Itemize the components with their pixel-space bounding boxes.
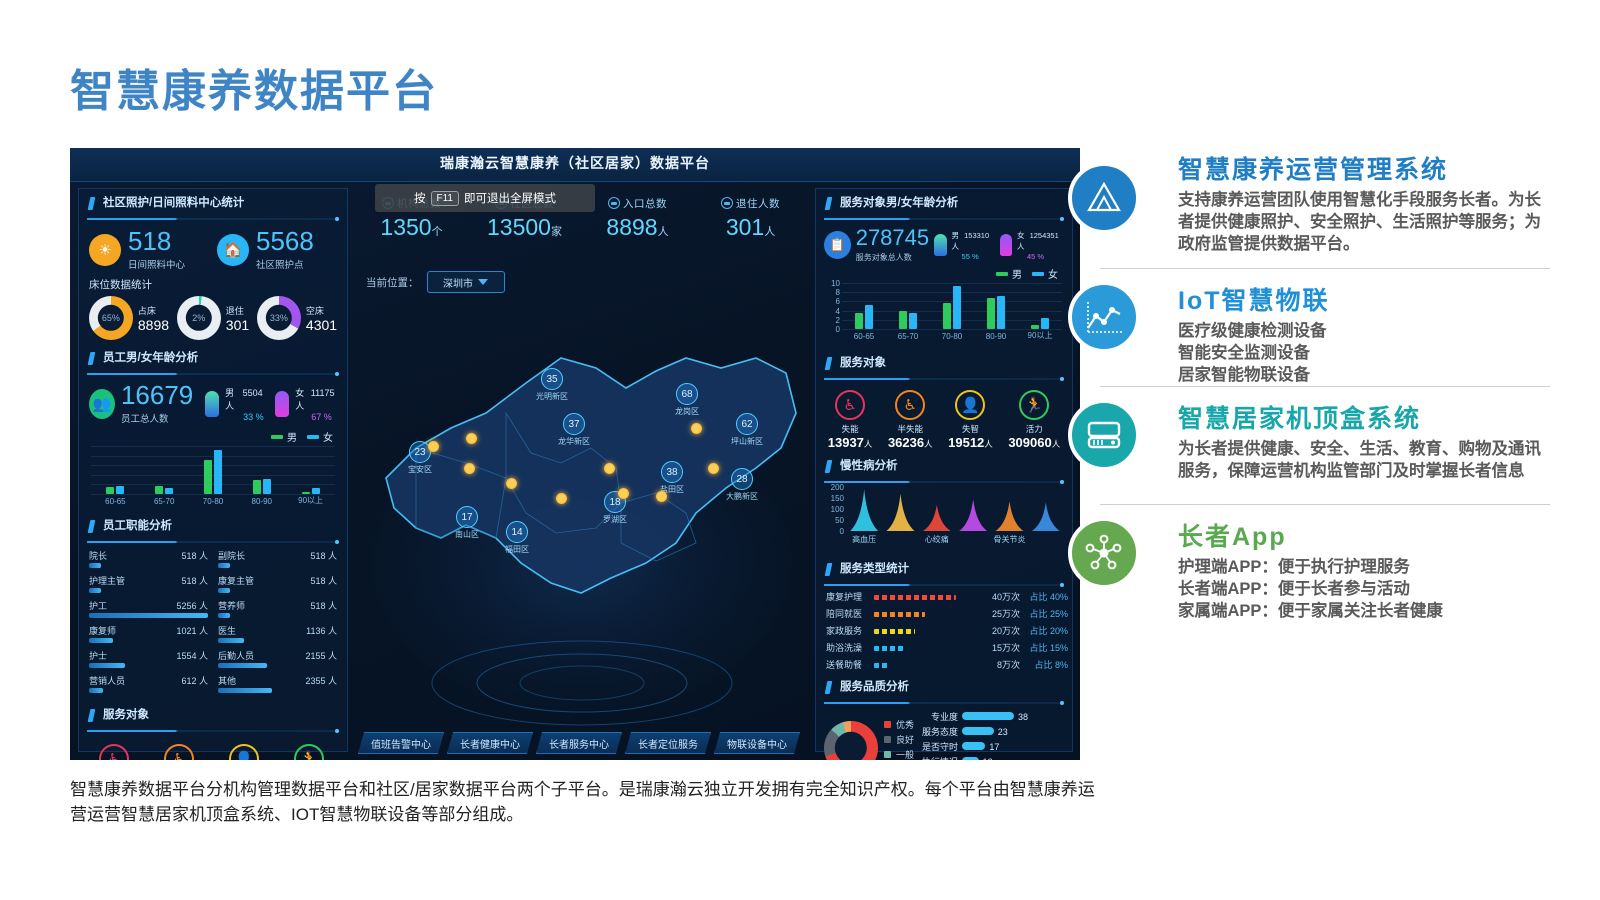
chronic-spikes	[846, 487, 1064, 533]
bar-女-90以上	[312, 488, 320, 494]
left-service-objects-title: 服务对象	[87, 707, 339, 729]
client-gender-stats: 📋 278745 服务对象总人数 男 153310人 55 % 女 125435…	[816, 224, 1072, 263]
job-bar	[89, 663, 125, 668]
x-axis-label: 90以上	[1018, 330, 1062, 341]
feature-desc-line: 医疗级健康检测设备	[1178, 321, 1550, 343]
y-axis-tick: 0	[826, 325, 840, 334]
service-object-半失能: ♿半失能36236人	[888, 390, 933, 450]
job-item: 营养师518 人	[218, 599, 337, 624]
care-card-2: 🏠5568社区照护点	[217, 228, 337, 271]
quality-bar-fill	[962, 742, 985, 750]
legend-item-男: 男	[996, 266, 1022, 281]
donut-graphic: 33%	[257, 296, 301, 340]
feature-title: 长者App	[1178, 517, 1550, 553]
right-panel: 服务对象男/女年龄分析 📋 278745 服务对象总人数 男 153310人 5…	[815, 188, 1073, 752]
kpi-label: 入口总数	[581, 196, 694, 211]
legend-swatch	[996, 272, 1008, 276]
bar-男-60-65	[855, 313, 863, 329]
bed-donut-1: 65%占床8898	[89, 296, 169, 340]
kpi-value: 8898人	[581, 214, 694, 241]
bed-donut-2: 2%退住301	[177, 296, 249, 340]
job-bar	[89, 688, 103, 693]
grid-line	[91, 475, 335, 476]
map-marker-label: 宝安区	[408, 464, 432, 475]
legend-item-女: 女	[1032, 266, 1058, 281]
job-item: 护士1554 人	[89, 649, 208, 674]
bar-男-80-90	[253, 480, 261, 494]
female-figure-icon	[275, 391, 289, 417]
x-axis-label: 60-65	[91, 497, 140, 506]
quality-legend: 优秀良好一般差	[884, 718, 914, 761]
chronic-peak	[996, 501, 1024, 531]
map-marker-盐田区[interactable]: 38盐田区	[661, 461, 696, 495]
feature-item-3: 智慧居家机顶盒系统为长者提供健康、安全、生活、教育、购物及通讯服务，保障运营机构…	[1100, 386, 1550, 504]
tab-长者健康中心[interactable]: 长者健康中心	[447, 732, 533, 754]
job-bar	[89, 563, 101, 568]
job-item: 营销人员612 人	[89, 674, 208, 699]
kpi-4: 退住人数301人	[694, 196, 807, 241]
section-divider	[824, 378, 1064, 380]
legend-item-男: 男	[271, 429, 297, 444]
grid-line	[842, 301, 1062, 302]
city-dropdown[interactable]: 深圳市	[427, 271, 505, 293]
service-type-count: 40万次	[992, 590, 1020, 603]
service-type-name: 送餐助餐	[826, 658, 862, 671]
bar-男-70-80	[943, 303, 951, 329]
job-value: 518 人	[181, 549, 208, 562]
staff-total-value: 16679	[121, 382, 193, 408]
service-type-row: 送餐助餐8万次占比 8%	[816, 658, 1072, 675]
map-marker-坪山新区[interactable]: 62坪山新区	[736, 413, 779, 447]
client-total-value: 278745	[856, 227, 929, 249]
page-title: 智慧康养数据平台	[70, 55, 438, 119]
service-type-count: 8万次	[997, 658, 1020, 671]
donut-percent: 65%	[89, 313, 133, 323]
beds-title: 床位数据统计	[79, 271, 347, 294]
client-chart-legend: 男女	[816, 263, 1072, 281]
service-object-value: 19512人	[948, 435, 993, 450]
bar-男-80-90	[987, 298, 995, 329]
bar-男-60-65	[106, 487, 114, 494]
chronic-chart: 200150100500高血压心绞痛骨关节炎	[846, 487, 1064, 545]
y-axis-tick: 8	[826, 288, 840, 297]
care-section-title: 社区照护/日间照料中心统计	[87, 195, 339, 217]
service-type-bar	[874, 629, 915, 634]
grid-line	[842, 283, 1062, 284]
staff-gender-title: 员工男/女年龄分析	[87, 350, 339, 372]
job-value: 1554 人	[176, 649, 208, 662]
job-value: 518 人	[310, 574, 337, 587]
chronic-peak	[850, 489, 878, 531]
feature-title: 智慧康养运营管理系统	[1178, 150, 1550, 186]
bar-男-90以上	[302, 492, 310, 494]
x-axis-label: 70-80	[189, 497, 238, 506]
chronic-peak	[887, 494, 915, 531]
job-value: 2355 人	[305, 674, 337, 687]
service-object-label: 失能	[828, 423, 873, 435]
section-divider	[87, 730, 339, 732]
service-type-percent: 占比 8%	[1034, 658, 1068, 671]
fullscreen-hint-suffix: 即可退出全屏模式	[464, 190, 556, 206]
job-item: 副院长518 人	[218, 549, 337, 574]
chevron-down-icon	[478, 279, 488, 285]
service-type-count: 25万次	[992, 607, 1020, 620]
feature-desc-line: 智能安全监测设备	[1178, 343, 1550, 365]
x-axis-label: 60-65	[842, 332, 886, 341]
section-divider	[824, 702, 1064, 704]
grid-line	[91, 446, 335, 447]
staff-age-chart: 60-6565-7070-8080-9090以上	[91, 446, 335, 506]
x-axis-label: 高血压	[834, 534, 894, 545]
feature-description: 护理端APP：便于执行护理服务长者端APP：便于长者参与活动家属端APP：便于家…	[1178, 557, 1550, 622]
job-item: 康复主管518 人	[218, 574, 337, 599]
service-object-半失能: ♿半失能1335人	[162, 744, 197, 760]
fullscreen-hint-prefix: 按	[414, 190, 426, 206]
job-name: 营养师	[218, 599, 245, 612]
quality-bar-name: 服务态度	[920, 725, 958, 738]
staff-female-pct: 67 %	[311, 412, 337, 422]
job-value: 518 人	[310, 549, 337, 562]
left-service-objects: ♿失能445人♿半失能1335人👤失智675人🏃活力6443人	[79, 736, 347, 760]
service-object-失智: 👤失智19512人	[948, 390, 993, 450]
client-gender-title: 服务对象男/女年龄分析	[824, 195, 1064, 217]
map-marker-label: 南山区	[455, 529, 479, 540]
service-object-label: 失智	[948, 423, 993, 435]
feature-item-2: IoT智慧物联医疗级健康检测设备智能安全监测设备居家智能物联设备	[1100, 268, 1550, 386]
service-object-label: 活力	[1008, 423, 1060, 435]
dashboard-screenshot: 瑞康瀚云智慧康养（社区居家）数据平台 按 F11 即可退出全屏模式 机构总数13…	[70, 148, 1080, 760]
map-dot	[466, 433, 477, 444]
y-axis-tick: 200	[826, 483, 844, 492]
y-axis-tick: 2	[826, 316, 840, 325]
job-value: 1021 人	[176, 624, 208, 637]
x-axis-label: 90以上	[286, 495, 335, 506]
bar-男-70-80	[204, 460, 212, 495]
job-item: 后勤人员2155 人	[218, 649, 337, 674]
x-axis-label: 80-90	[974, 332, 1018, 341]
tab-长者服务中心[interactable]: 长者服务中心	[536, 732, 622, 754]
quality-bar-fill	[962, 727, 994, 735]
service-type-name: 助浴洗澡	[826, 641, 862, 654]
jobs-grid: 院长518 人副院长518 人护理主管518 人康复主管518 人护工5256 …	[79, 547, 347, 701]
right-service-objects: ♿失能13937人♿半失能36236人👤失智19512人🏃活力309060人	[816, 384, 1072, 450]
service-type-bar	[874, 612, 925, 617]
map-marker-大鹏新区[interactable]: 28大鹏新区	[731, 468, 774, 502]
map-marker-南山区[interactable]: 17南山区	[456, 506, 491, 540]
tab-物联设备中心[interactable]: 物联设备中心	[714, 732, 800, 754]
service-type-bar	[874, 646, 904, 651]
job-item: 护理主管518 人	[89, 574, 208, 599]
job-name: 后勤人员	[218, 649, 254, 662]
job-value: 2155 人	[305, 649, 337, 662]
kpi-value: 301人	[694, 214, 807, 241]
job-item: 院长518 人	[89, 549, 208, 574]
kpi-icon	[608, 197, 620, 209]
job-value: 518 人	[181, 574, 208, 587]
caption-text: 智慧康养数据平台分机构管理数据平台和社区/居家数据平台两个子平台。是瑞康瀚云独立…	[70, 778, 1100, 827]
service-type-percent: 占比 20%	[1029, 624, 1068, 637]
map-dot	[464, 463, 475, 474]
service-type-bar	[874, 595, 956, 600]
job-value: 612 人	[181, 674, 208, 687]
quality-bar-value: 38	[1018, 712, 1028, 722]
map-marker-value: 38	[661, 461, 683, 483]
map-marker-value: 14	[506, 521, 528, 543]
fullscreen-hint: 按 F11 即可退出全屏模式	[375, 184, 595, 212]
male-figure-icon	[934, 234, 946, 256]
x-axis-label: 70-80	[930, 332, 974, 341]
quality-bar-name: 是否守时	[920, 740, 958, 753]
section-divider	[824, 481, 1064, 483]
job-name: 其他	[218, 674, 236, 687]
app-network-icon	[1068, 517, 1140, 589]
job-bar	[89, 638, 113, 643]
grid-line	[91, 456, 335, 457]
bar-女-90以上	[1041, 318, 1049, 329]
service-object-value: 13937人	[828, 435, 873, 450]
map-marker-label: 龙华新区	[558, 436, 590, 447]
dementia-icon: 👤	[229, 744, 259, 760]
x-axis-label: 65-70	[886, 332, 930, 341]
map-marker-光明新区[interactable]: 35光明新区	[541, 368, 584, 402]
quality-donut	[824, 721, 878, 761]
feature-desc-line: 护理端APP：便于执行护理服务	[1178, 557, 1550, 579]
feature-item-1: 智慧康养运营管理系统支持康养运营团队使用智慧化手段服务长者。为长者提供健康照护、…	[1100, 150, 1550, 268]
female-figure-icon	[1000, 234, 1012, 256]
legend-swatch	[271, 435, 283, 439]
legend-swatch	[884, 721, 891, 728]
service-object-活力: 🏃活力309060人	[1008, 390, 1060, 450]
service-type-row: 家政服务20万次占比 20%	[816, 624, 1072, 641]
quality-bar-row: 执行情况12	[920, 755, 1064, 760]
map-marker-福田区[interactable]: 14福田区	[506, 521, 541, 555]
staff-chart-legend: 男女	[79, 425, 347, 444]
map-dot	[618, 488, 629, 499]
staff-male-label: 男	[225, 388, 234, 398]
quality-bar-name: 专业度	[920, 710, 958, 723]
right-service-objects-title: 服务对象	[824, 355, 1064, 377]
staff-female-label: 女	[295, 388, 304, 398]
map-marker-label: 大鹏新区	[726, 491, 758, 502]
tab-长者定位服务[interactable]: 长者定位服务	[625, 732, 711, 754]
client-age-chart: 60-6565-7070-8080-9090以上1086420	[842, 283, 1062, 341]
quality-legend-一般: 一般	[884, 748, 914, 761]
job-item: 护工5256 人	[89, 599, 208, 624]
tab-值班告警中心[interactable]: 值班告警中心	[358, 732, 444, 754]
y-axis-tick: 10	[826, 279, 840, 288]
quality-bar-fill	[962, 757, 979, 760]
bed-donut-3: 33%空床4301	[257, 296, 337, 340]
quality-legend-良好: 良好	[884, 733, 914, 748]
bed-label: 退住	[226, 304, 249, 317]
service-types-list: 康复护理40万次占比 40%陪同就医25万次占比 25%家政服务20万次占比 2…	[816, 590, 1072, 675]
service-object-value: 36236人	[888, 435, 933, 450]
feature-description: 为长者提供健康、安全、生活、教育、购物及通讯服务，保障运营机构监管部门及时掌握长…	[1178, 439, 1550, 483]
map-area[interactable]: 当前位置： 深圳市 35光明新区37龙华新区23宝安区68龙岗区62坪山新区17…	[356, 263, 808, 753]
service-type-row: 助浴洗澡15万次占比 15%	[816, 641, 1072, 658]
map-marker-龙华新区[interactable]: 37龙华新区	[563, 413, 606, 447]
care-card-value: 5568	[256, 228, 314, 254]
feature-desc-line: 家属端APP：便于家属关注长者健康	[1178, 601, 1550, 623]
y-axis-tick: 100	[826, 505, 844, 514]
feature-desc-line: 支持康养运营团队使用智慧化手段服务长者。为长者提供健康照护、安全照护、生活照护等…	[1178, 190, 1550, 255]
legend-item-女: 女	[307, 429, 333, 444]
job-value: 1136 人	[306, 624, 337, 637]
quality-block: 优秀良好一般差 专业度38服务态度23是否守时17执行情况12其他10	[816, 708, 1072, 760]
y-axis-tick: 4	[826, 307, 840, 316]
quality-title: 服务品质分析	[824, 679, 1064, 701]
feature-list: 智慧康养运营管理系统支持康养运营团队使用智慧化手段服务长者。为长者提供健康照护、…	[1100, 150, 1550, 623]
feature-desc-line: 为长者提供健康、安全、生活、教育、购物及通讯服务，保障运营机构监管部门及时掌握长…	[1178, 439, 1550, 483]
donut-percent: 33%	[257, 313, 301, 323]
disabled-icon: ♿	[835, 390, 865, 420]
map-marker-label: 龙岗区	[675, 406, 699, 417]
bar-女-60-65	[116, 486, 124, 494]
client-female-label: 女	[1017, 231, 1025, 240]
service-type-percent: 占比 15%	[1029, 641, 1068, 654]
section-divider	[87, 218, 339, 220]
bar-女-65-70	[165, 488, 173, 494]
job-name: 康复师	[89, 624, 116, 637]
service-type-row: 陪同就医25万次占比 25%	[816, 607, 1072, 624]
kpi-icon	[721, 197, 733, 209]
active-icon: 🏃	[294, 744, 324, 760]
job-name: 院长	[89, 549, 107, 562]
service-type-percent: 占比 25%	[1029, 607, 1068, 620]
bar-女-70-80	[953, 286, 961, 329]
job-bar	[218, 613, 230, 618]
service-type-count: 15万次	[992, 641, 1020, 654]
client-total-label: 服务对象总人数	[856, 252, 929, 263]
quality-bar-fill	[962, 712, 1014, 720]
x-axis-label: 65-70	[140, 497, 189, 506]
map-marker-value: 35	[541, 368, 563, 390]
y-axis-tick: 6	[826, 297, 840, 306]
feature-title: IoT智慧物联	[1178, 281, 1550, 317]
service-type-row: 康复护理40万次占比 40%	[816, 590, 1072, 607]
map-marker-label: 光明新区	[536, 391, 568, 402]
service-object-活力: 🏃活力6443人	[292, 744, 327, 760]
job-name: 副院长	[218, 549, 245, 562]
care-card-1: ☀518日间照料中心	[89, 228, 209, 271]
legend-swatch	[1032, 272, 1044, 276]
set-top-box-icon	[1068, 399, 1140, 471]
semi-disabled-icon: ♿	[164, 744, 194, 760]
service-object-失智: 👤失智675人	[229, 744, 259, 760]
service-type-name: 陪同就医	[826, 607, 862, 620]
bottom-tabs[interactable]: 值班告警中心长者健康中心长者服务中心长者定位服务物联设备中心	[358, 732, 800, 754]
service-type-name: 康复护理	[826, 590, 862, 603]
bar-男-65-70	[899, 311, 907, 329]
bed-value: 301	[226, 317, 249, 333]
bar-男-90以上	[1031, 325, 1039, 329]
client-total-icon: 📋	[824, 231, 851, 259]
feature-description: 支持康养运营团队使用智慧化手段服务长者。为长者提供健康照护、安全照护、生活照护等…	[1178, 190, 1550, 255]
left-panel: 社区照护/日间照料中心统计 ☀518日间照料中心🏠5568社区照护点 床位数据统…	[78, 188, 348, 752]
kpi-3: 入口总数8898人	[581, 196, 694, 241]
map-dot	[708, 463, 719, 474]
map-marker-label: 福田区	[505, 544, 529, 555]
city-dropdown-value: 深圳市	[443, 275, 473, 290]
kpi-label: 退住人数	[694, 196, 807, 211]
triangle-network-icon	[1068, 162, 1140, 234]
dashboard-header: 瑞康瀚云智慧康养（社区居家）数据平台	[70, 148, 1080, 182]
job-bar	[218, 688, 272, 693]
job-name: 医生	[218, 624, 236, 637]
quality-bars: 专业度38服务态度23是否守时17执行情况12其他10	[920, 710, 1064, 760]
daycare-icon: ☀	[89, 234, 121, 266]
legend-swatch	[884, 751, 891, 758]
map-marker-value: 28	[731, 468, 753, 490]
location-selector[interactable]: 当前位置： 深圳市	[366, 271, 505, 293]
bed-value: 8898	[138, 317, 169, 333]
map-dot	[691, 423, 702, 434]
job-item: 其他2355 人	[218, 674, 337, 699]
job-bar	[218, 663, 267, 668]
section-divider	[824, 218, 1064, 220]
grid-line	[91, 484, 335, 485]
map-graphic	[356, 263, 808, 753]
quality-bar-row: 服务态度23	[920, 725, 1064, 740]
section-divider	[824, 584, 1064, 586]
bed-label: 占床	[138, 304, 169, 317]
client-male-pct: 55 %	[962, 252, 995, 261]
service-type-name: 家政服务	[826, 624, 862, 637]
beds-donuts: 65%占床88982%退住30133%空床4301	[79, 294, 347, 344]
y-axis-tick: 50	[826, 516, 844, 525]
map-marker-value: 17	[456, 506, 478, 528]
legend-swatch	[307, 435, 319, 439]
donut-graphic: 2%	[177, 296, 221, 340]
bar-男-65-70	[155, 486, 163, 494]
job-item: 医生1136 人	[218, 624, 337, 649]
service-types-title: 服务类型统计	[824, 561, 1064, 583]
dashboard-title: 瑞康瀚云智慧康养（社区居家）数据平台	[70, 153, 1080, 173]
legend-swatch	[884, 736, 891, 743]
service-object-label: 半失能	[888, 423, 933, 435]
quality-bar-row: 是否守时17	[920, 740, 1064, 755]
job-name: 护士	[89, 649, 107, 662]
service-object-失能: ♿失能445人	[99, 744, 129, 760]
service-type-percent: 占比 40%	[1029, 590, 1068, 603]
map-marker-value: 68	[676, 383, 698, 405]
chronic-peak	[1032, 502, 1060, 531]
donut-graphic: 65%	[89, 296, 133, 340]
feature-description: 医疗级健康检测设备智能安全监测设备居家智能物联设备	[1178, 321, 1550, 386]
map-dot	[428, 441, 439, 452]
map-dot	[656, 491, 667, 502]
service-object-value: 309060人	[1008, 435, 1060, 450]
y-axis-tick: 150	[826, 494, 844, 503]
x-axis-label: 心绞痛	[907, 534, 967, 545]
bar-女-60-65	[865, 305, 873, 329]
grid-line	[842, 292, 1062, 293]
map-marker-value: 62	[736, 413, 758, 435]
job-item: 康复师1021 人	[89, 624, 208, 649]
map-marker-value: 37	[563, 413, 585, 435]
job-value: 518 人	[310, 599, 337, 612]
quality-bar-value: 12	[983, 757, 993, 760]
disabled-icon: ♿	[99, 744, 129, 760]
chronic-peak	[923, 505, 951, 531]
semi-disabled-icon: ♿	[895, 390, 925, 420]
job-bar	[218, 563, 230, 568]
donut-percent: 2%	[177, 313, 221, 323]
quality-bar-name: 执行情况	[920, 755, 958, 760]
client-female-count: 1254351人	[1017, 231, 1059, 251]
map-marker-龙岗区[interactable]: 68龙岗区	[676, 383, 711, 417]
staff-total-label: 员工总人数	[121, 411, 193, 425]
